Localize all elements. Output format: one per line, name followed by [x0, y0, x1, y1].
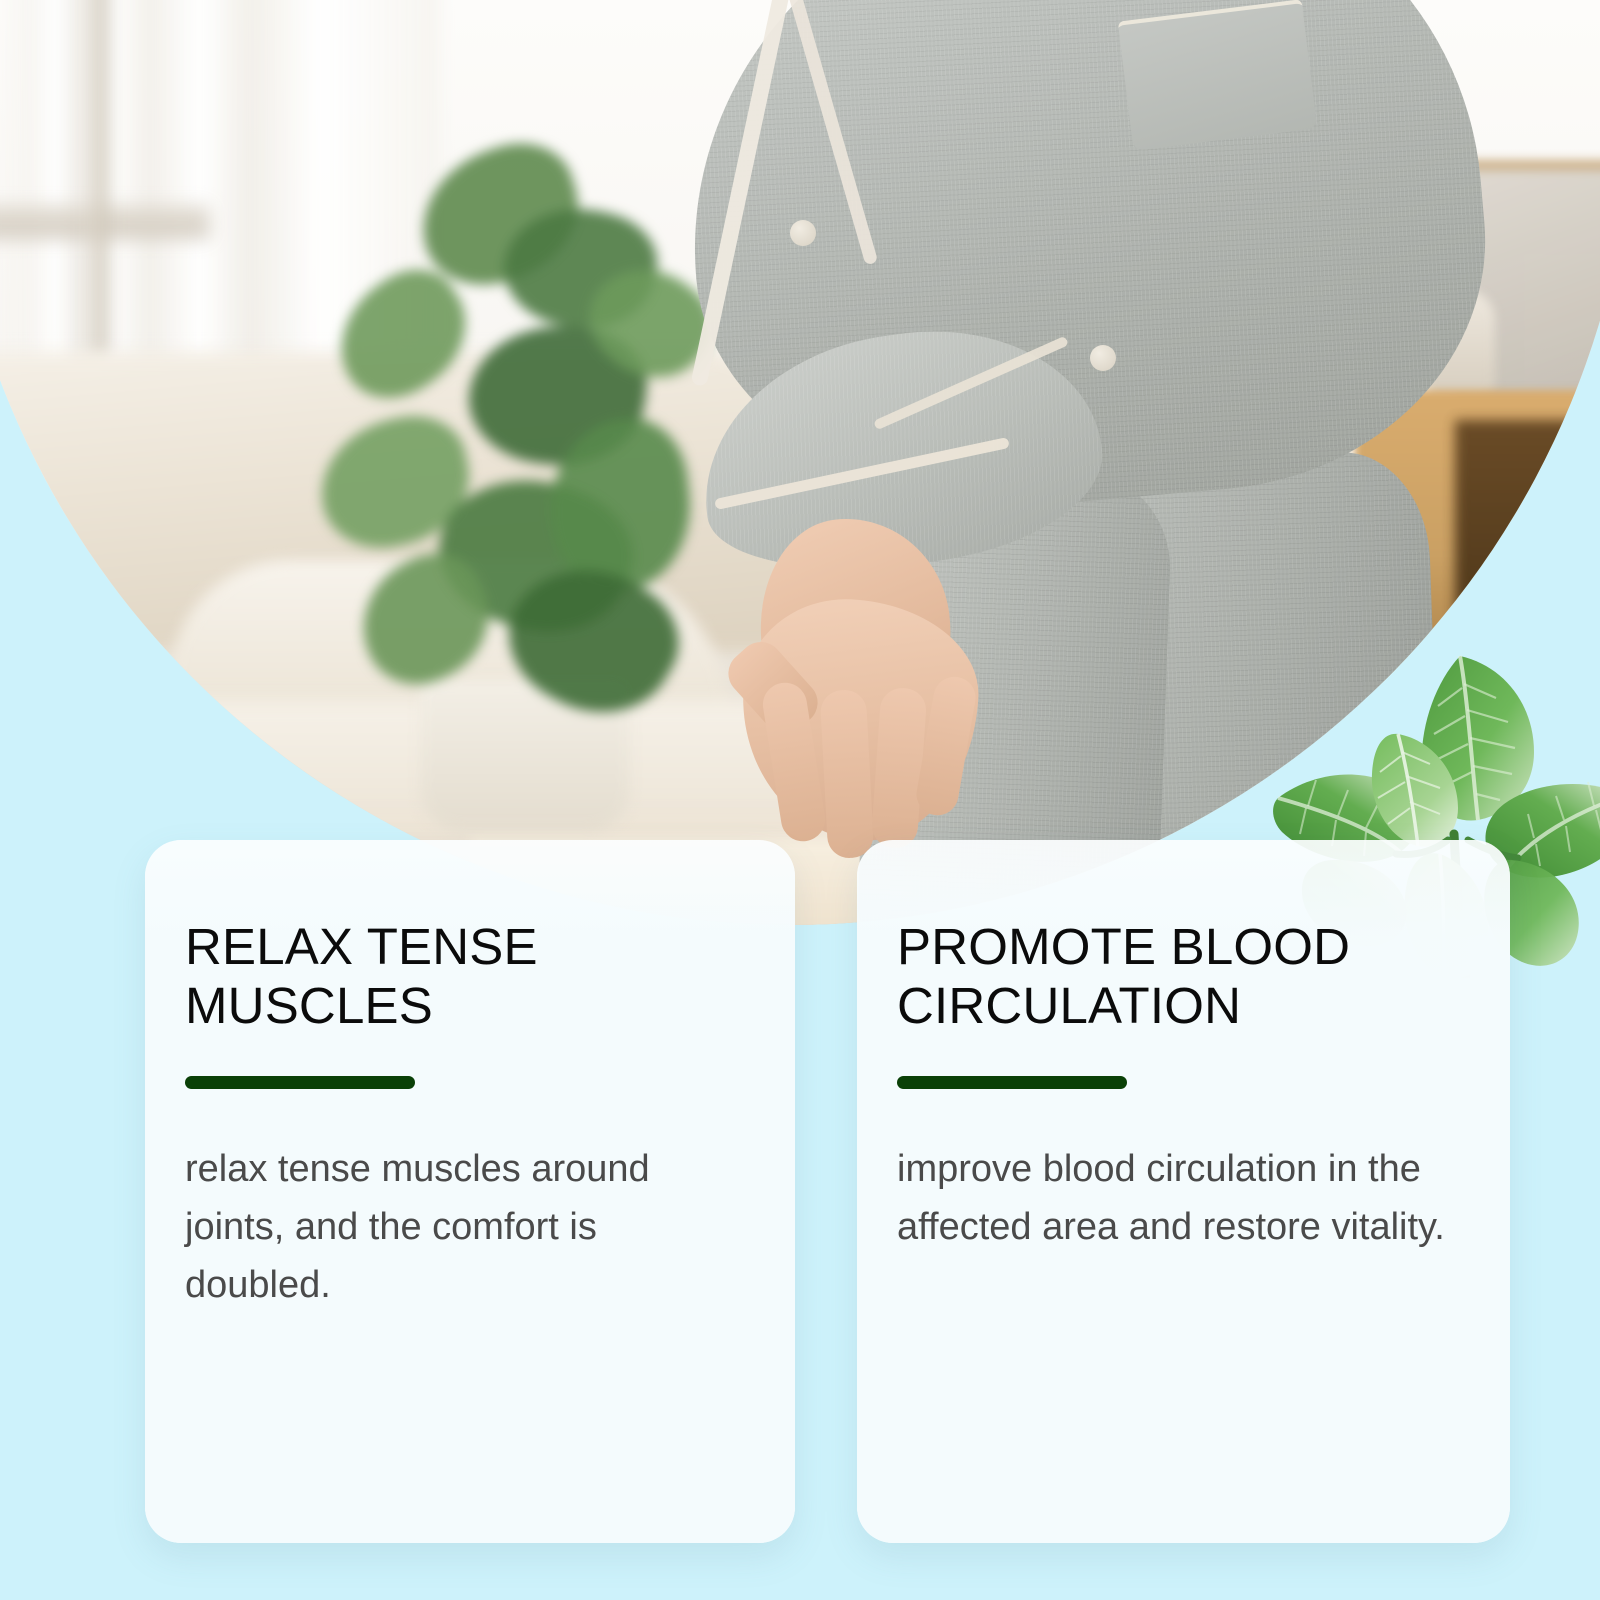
card-title: PROMOTE BLOOD CIRCULATION [897, 918, 1454, 1035]
promo-poster: RELAX TENSE MUSCLES relax tense muscles … [0, 0, 1600, 1600]
feature-card-promote-blood-circulation[interactable]: PROMOTE BLOOD CIRCULATION improve blood … [857, 840, 1510, 1543]
card-accent-rule [897, 1076, 1127, 1089]
pyjama-button [1090, 345, 1116, 371]
pyjama-button [790, 220, 816, 246]
card-title: RELAX TENSE MUSCLES [185, 918, 739, 1035]
hand-finger [820, 689, 875, 859]
window-frame-vertical [88, 0, 110, 360]
card-accent-rule [185, 1076, 415, 1089]
feature-card-relax-tense-muscles[interactable]: RELAX TENSE MUSCLES relax tense muscles … [145, 840, 795, 1543]
pyjama-chest-pocket [1118, 0, 1317, 151]
fiddle-leaf-plant [300, 120, 730, 720]
cabinet-shadow [1455, 420, 1600, 660]
card-description: relax tense muscles around joints, and t… [185, 1141, 739, 1314]
card-description: improve blood circulation in the affecte… [897, 1141, 1454, 1257]
